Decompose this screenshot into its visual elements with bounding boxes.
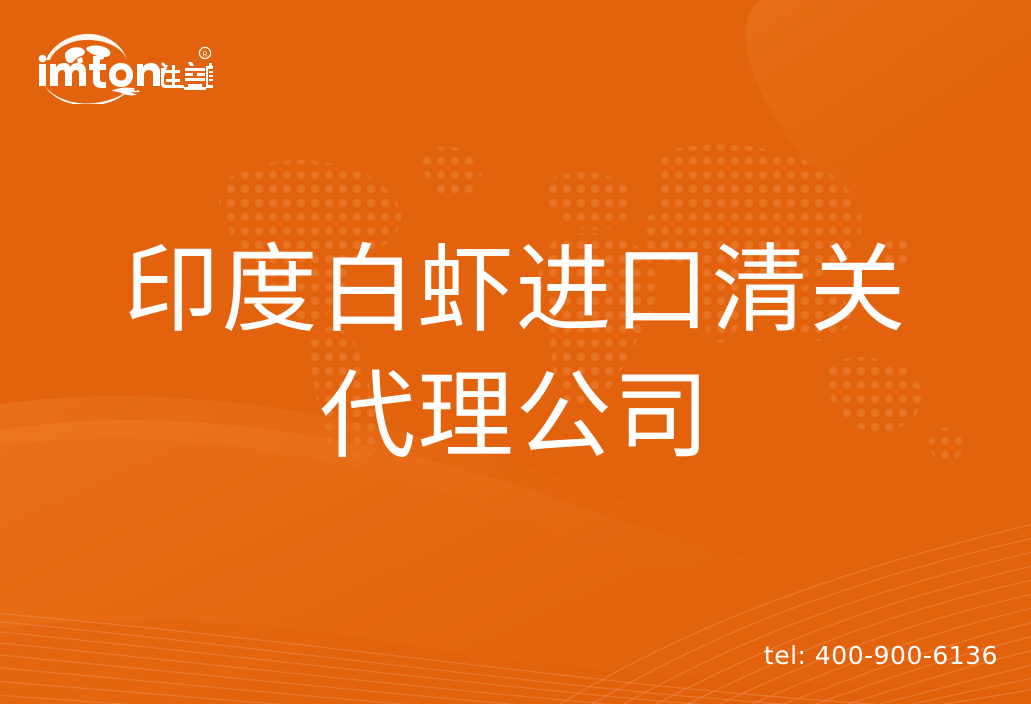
brand-logo[interactable]: R	[33, 28, 213, 104]
page-title: 印度白虾进口清关 代理公司	[0, 228, 1031, 480]
plane-icon	[111, 88, 140, 96]
globe-icon	[46, 34, 127, 64]
registered-trademark-icon: R	[199, 47, 210, 58]
chinese-name-glyphs	[161, 62, 213, 90]
phone-text: tel: 400-900-6136	[764, 641, 998, 670]
headline-line-2: 代理公司	[0, 354, 1031, 480]
wordmark-imton	[39, 55, 160, 88]
promo-banner: R 印度白虾进口清关 代理公司 tel: 400-900-6136	[0, 0, 1031, 704]
svg-text:R: R	[202, 51, 207, 58]
headline-line-1: 印度白虾进口清关	[0, 228, 1031, 354]
contact-phone[interactable]: tel: 400-900-6136	[764, 641, 998, 670]
